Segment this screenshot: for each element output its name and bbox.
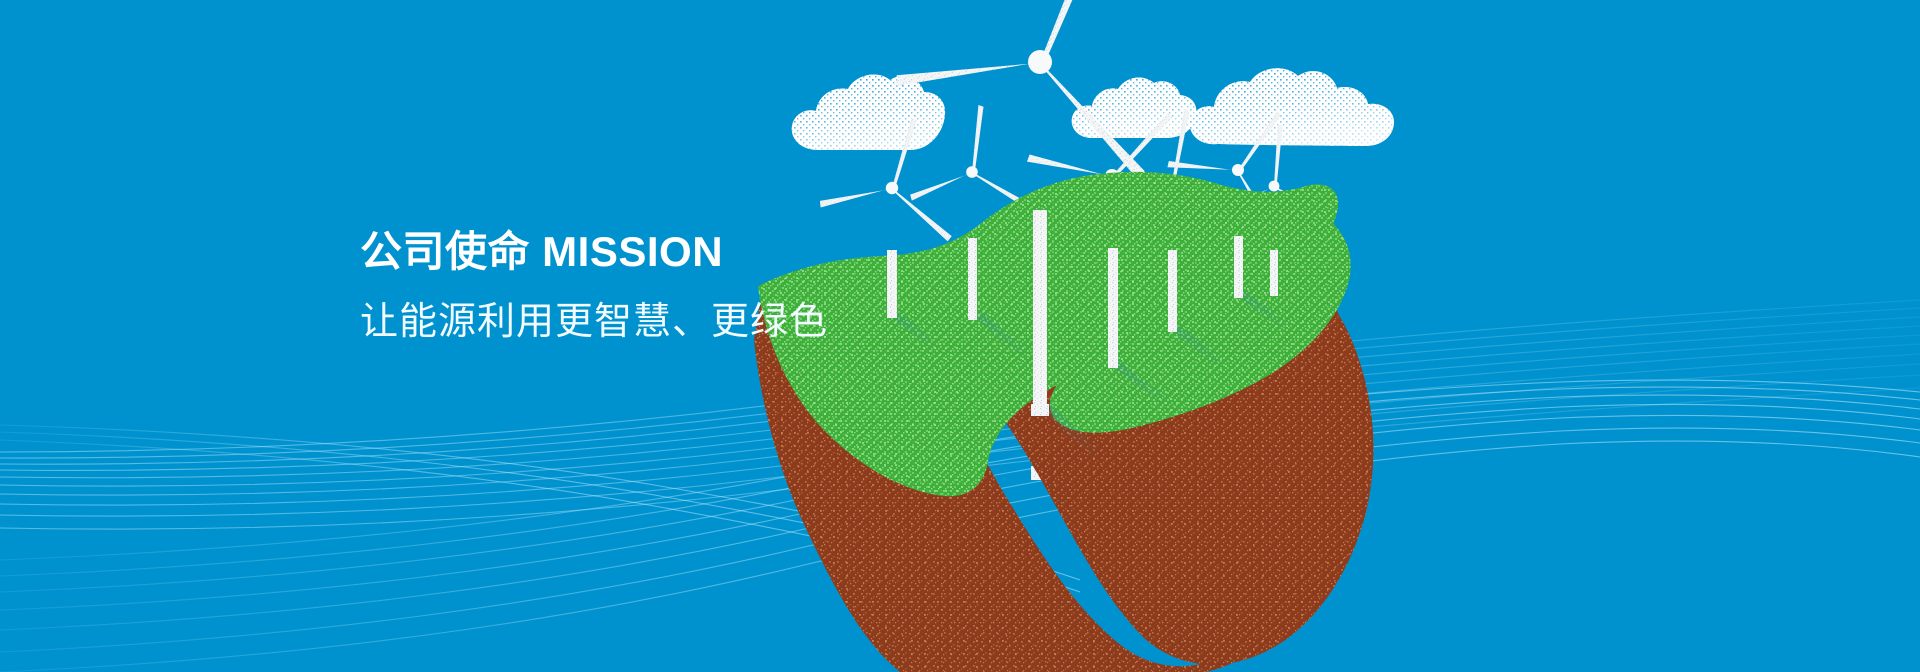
cloud-right-icon — [1190, 68, 1394, 146]
cloud-middle-icon — [1072, 77, 1197, 138]
cloud-left-icon — [792, 74, 945, 150]
page-title: 公司使命 MISSION — [360, 228, 1060, 275]
page-subtitle: 让能源利用更智慧、更绿色 — [360, 301, 1060, 345]
text-block: 公司使命 MISSION 让能源利用更智慧、更绿色 — [360, 228, 1060, 345]
mission-hero-banner: 公司使命 MISSION 让能源利用更智慧、更绿色 — [0, 0, 1920, 672]
